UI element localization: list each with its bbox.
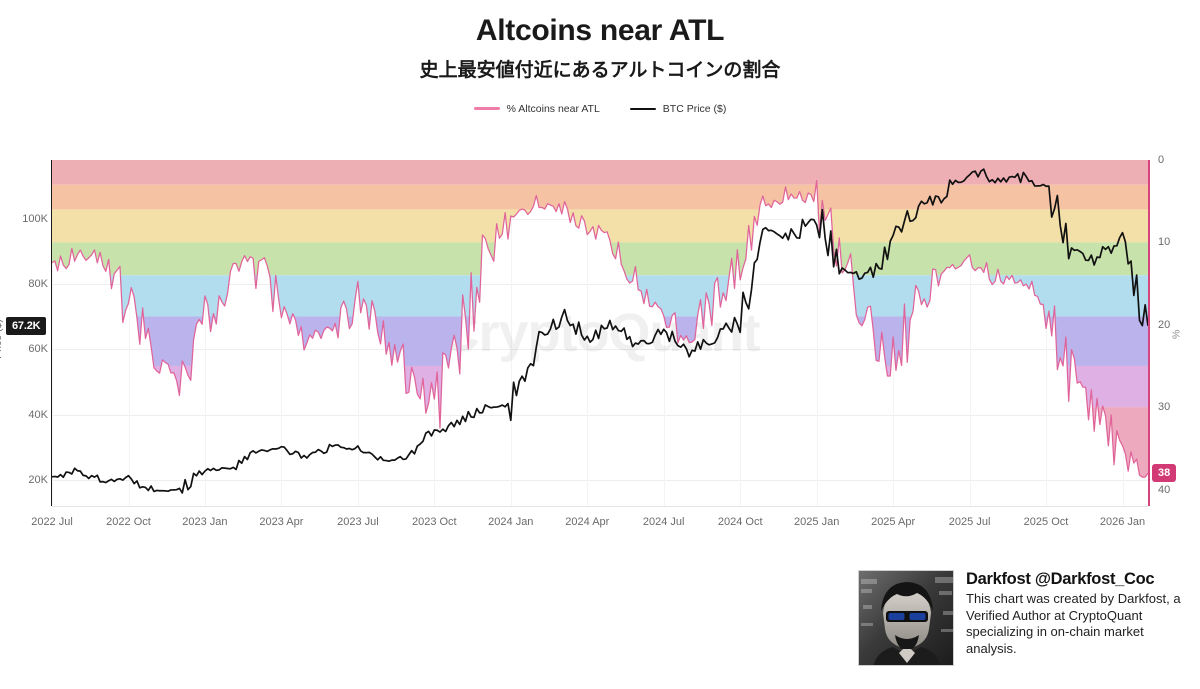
- x-tick-2025-Jul: 2025 Jul: [949, 516, 991, 528]
- left-tick-80K: 80K: [0, 278, 48, 290]
- author-description: This chart was created by Darkfost, a Ve…: [966, 591, 1194, 658]
- rainbow-band-2: [52, 209, 1148, 242]
- legend-item-btc-price[interactable]: BTC Price ($): [630, 103, 727, 115]
- left-tick-100K: 100K: [0, 213, 48, 225]
- rainbow-band-1: [52, 185, 1148, 210]
- x-tick-2026-Jan: 2026 Jan: [1100, 516, 1145, 528]
- right-tick-10: 10: [1158, 236, 1198, 248]
- rainbow-band-6: [52, 366, 1148, 407]
- legend-label-btc-price: BTC Price ($): [663, 103, 727, 115]
- left-tick-60K: 60K: [0, 343, 48, 355]
- right-tick-40: 40: [1158, 484, 1198, 496]
- author-card: Darkfost @Darkfost_Coc This chart was cr…: [858, 570, 1194, 680]
- legend-item-altcoins[interactable]: % Altcoins near ATL: [474, 103, 600, 115]
- right-tick-0: 0: [1158, 154, 1198, 166]
- x-tick-2023-Jul: 2023 Jul: [337, 516, 379, 528]
- right-tick-30: 30: [1158, 401, 1198, 413]
- rainbow-band-4: [52, 275, 1148, 316]
- x-tick-2024-Apr: 2024 Apr: [565, 516, 609, 528]
- x-tick-2022-Jul: 2022 Jul: [31, 516, 73, 528]
- x-tick-2023-Jan: 2023 Jan: [182, 516, 227, 528]
- line-swatch-pink-icon: [474, 107, 500, 110]
- x-tick-2025-Apr: 2025 Apr: [871, 516, 915, 528]
- x-tick-2024-Jan: 2024 Jan: [488, 516, 533, 528]
- bottom-axis-line: [52, 506, 1148, 507]
- right-tick-20: 20: [1158, 319, 1198, 331]
- x-tick-2023-Oct: 2023 Oct: [412, 516, 457, 528]
- avatar-image: [859, 571, 954, 666]
- chart-legend: % Altcoins near ATL BTC Price ($): [0, 102, 1200, 116]
- right-axis-line: [1148, 160, 1150, 506]
- right-axis-label: %: [1171, 330, 1183, 339]
- legend-label-altcoins: % Altcoins near ATL: [507, 103, 600, 115]
- author-text-block: Darkfost @Darkfost_Coc This chart was cr…: [966, 570, 1194, 680]
- chart-area[interactable]: CryptoQuant Price ($) % 20K40K60K80K100K…: [0, 160, 1200, 522]
- rainbow-band-3: [52, 242, 1148, 275]
- rainbow-band-0: [52, 160, 1148, 185]
- author-handle: Darkfost @Darkfost_Coc: [966, 570, 1194, 589]
- btc-price-badge: 67.2K: [6, 317, 46, 335]
- x-tick-2023-Apr: 2023 Apr: [259, 516, 303, 528]
- x-tick-2025-Jan: 2025 Jan: [794, 516, 839, 528]
- plot-canvas: CryptoQuant: [52, 160, 1148, 506]
- x-tick-2024-Jul: 2024 Jul: [643, 516, 685, 528]
- x-tick-2025-Oct: 2025 Oct: [1024, 516, 1069, 528]
- x-tick-2022-Oct: 2022 Oct: [106, 516, 151, 528]
- avatar: [858, 570, 954, 666]
- rainbow-band-7: [52, 407, 1148, 506]
- series-svg: [52, 160, 1148, 506]
- line-swatch-black-icon: [630, 108, 656, 111]
- x-tick-2024-Oct: 2024 Oct: [718, 516, 763, 528]
- left-tick-20K: 20K: [0, 474, 48, 486]
- left-tick-40K: 40K: [0, 409, 48, 421]
- altcoin-pct-badge: 38: [1152, 464, 1176, 482]
- page-title: Altcoins near ATL: [0, 14, 1200, 47]
- page-subtitle: 史上最安値付近にあるアルトコインの割合: [0, 61, 1200, 82]
